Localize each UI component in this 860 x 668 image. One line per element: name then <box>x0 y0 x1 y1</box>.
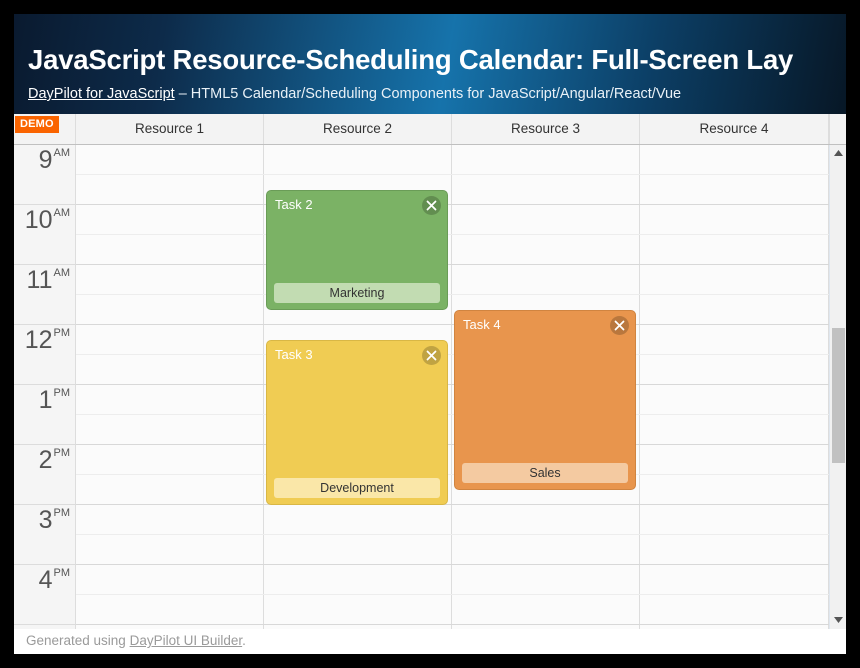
event-category-badge: Sales <box>462 463 628 483</box>
footer-prefix: Generated using <box>26 633 130 648</box>
calendar-corner-cell: DEMO <box>14 114 76 144</box>
calendar-scroll-body[interactable]: 9AM 10AM 11AM 12PM 1PM 2PM 3PM 4PM <box>14 145 846 629</box>
hour-meridiem: AM <box>54 267 71 279</box>
grid-column-resource-4[interactable] <box>640 145 829 629</box>
time-label-3pm: 3PM <box>14 505 75 565</box>
event-category-badge: Marketing <box>274 283 440 303</box>
window-frame: JavaScript Resource-Scheduling Calendar:… <box>14 14 846 654</box>
column-header-resource-1[interactable]: Resource 1 <box>76 114 264 144</box>
hour-number: 9 <box>39 146 53 174</box>
event-title: Task 4 <box>463 317 501 332</box>
hour-number: 3 <box>39 506 53 534</box>
event-task-3[interactable]: Task 3 Development <box>266 340 448 505</box>
page-title: JavaScript Resource-Scheduling Calendar:… <box>28 44 793 76</box>
time-label-1pm: 1PM <box>14 385 75 445</box>
vertical-scrollbar[interactable] <box>829 145 846 629</box>
banner-subtitle: DayPilot for JavaScript – HTML5 Calendar… <box>28 86 681 102</box>
hour-number: 11 <box>27 266 53 294</box>
time-label-4pm: 4PM <box>14 565 75 625</box>
footer-suffix: . <box>242 633 246 648</box>
page-footer: Generated using DayPilot UI Builder. <box>14 629 846 654</box>
event-task-4[interactable]: Task 4 Sales <box>454 310 636 490</box>
event-title: Task 3 <box>275 347 313 362</box>
banner-subtitle-rest: – HTML5 Calendar/Scheduling Components f… <box>175 86 681 102</box>
time-label-9am: 9AM <box>14 145 75 205</box>
hour-meridiem: AM <box>54 207 71 219</box>
column-header-resource-4[interactable]: Resource 4 <box>640 114 829 144</box>
time-label-10am: 10AM <box>14 205 75 265</box>
event-category-badge: Development <box>274 478 440 498</box>
event-title: Task 2 <box>275 197 313 212</box>
hour-meridiem: PM <box>54 327 71 339</box>
header-scrollbar-spacer <box>829 114 846 144</box>
hour-number: 1 <box>39 386 53 414</box>
hour-number: 2 <box>39 446 53 474</box>
hour-number: 10 <box>25 206 53 234</box>
scroll-down-arrow-icon[interactable] <box>830 612 846 629</box>
hour-meridiem: PM <box>54 387 71 399</box>
time-axis-column: 9AM 10AM 11AM 12PM 1PM 2PM 3PM 4PM <box>14 145 76 629</box>
ui-builder-link[interactable]: DayPilot UI Builder <box>130 633 243 648</box>
demo-badge: DEMO <box>15 116 59 133</box>
footer-credit: Generated using DayPilot UI Builder. <box>26 633 246 648</box>
event-task-2[interactable]: Task 2 Marketing <box>266 190 448 310</box>
column-header-resource-2[interactable]: Resource 2 <box>264 114 452 144</box>
hour-meridiem: PM <box>54 567 71 579</box>
scrollbar-thumb[interactable] <box>832 328 845 463</box>
column-header-resource-3[interactable]: Resource 3 <box>452 114 640 144</box>
grid-column-resource-1[interactable] <box>76 145 264 629</box>
time-label-2pm: 2PM <box>14 445 75 505</box>
page-banner: JavaScript Resource-Scheduling Calendar:… <box>14 14 846 114</box>
close-icon[interactable] <box>422 196 441 215</box>
daypilot-product-link[interactable]: DayPilot for JavaScript <box>28 86 175 102</box>
hour-meridiem: PM <box>54 447 71 459</box>
app-root: JavaScript Resource-Scheduling Calendar:… <box>0 0 860 668</box>
calendar-grid[interactable]: Task 2 Marketing Task 3 Development <box>76 145 829 629</box>
hour-number: 4 <box>39 566 53 594</box>
hour-meridiem: AM <box>54 147 71 159</box>
close-icon[interactable] <box>610 316 629 335</box>
calendar-header-row: DEMO Resource 1 Resource 2 Resource 3 Re… <box>14 114 846 145</box>
close-icon[interactable] <box>422 346 441 365</box>
hour-number: 12 <box>25 326 53 354</box>
time-label-12pm: 12PM <box>14 325 75 385</box>
hour-meridiem: PM <box>54 507 71 519</box>
scroll-up-arrow-icon[interactable] <box>830 145 846 162</box>
time-label-11am: 11AM <box>14 265 75 325</box>
